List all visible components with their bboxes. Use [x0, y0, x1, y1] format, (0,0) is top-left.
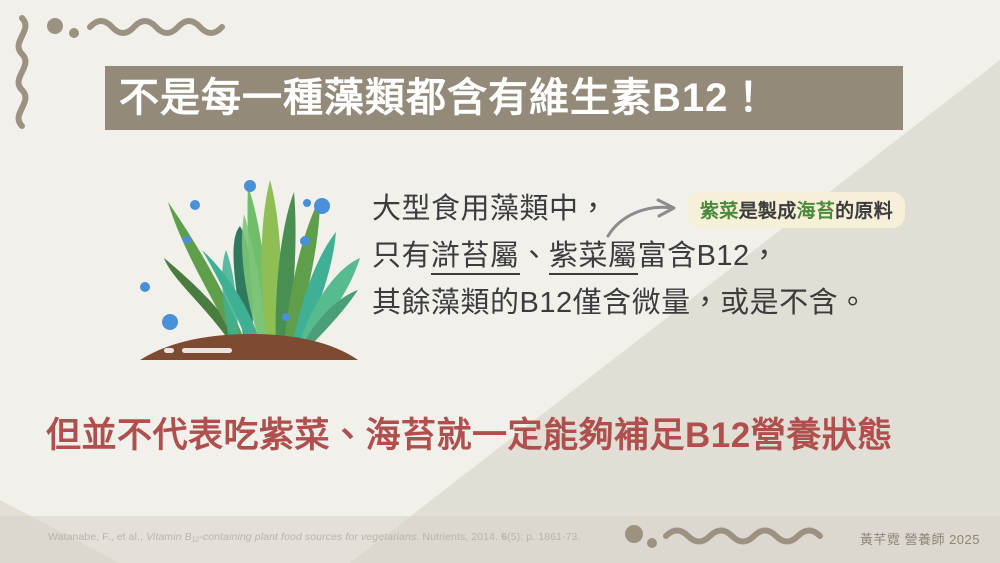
title-band: 不是每一種藻類都含有維生素B12！	[105, 66, 903, 130]
body-line-2: 只有滸苔屬、紫菜屬富含B12，	[372, 233, 952, 280]
vertical-wavy-line-icon	[19, 18, 26, 126]
bubble-icon	[162, 314, 178, 330]
bubble-icon	[183, 236, 191, 244]
body-line-3: 其餘藻類的B12僅含微量，或是不含。	[372, 280, 952, 327]
dot-icon-small	[69, 28, 79, 38]
body-line-2-separator: 、	[520, 240, 550, 272]
bubble-icon	[314, 198, 330, 214]
callout-segment-nori-product: 海苔	[797, 201, 836, 222]
bubble-icon	[190, 200, 200, 210]
callout-badge: 紫菜是製成海苔的原料	[688, 192, 905, 228]
curved-arrow-icon	[602, 196, 692, 240]
decoration-footer	[620, 518, 850, 558]
bubble-icon	[140, 282, 150, 292]
callout-segment-nori-source: 紫菜	[700, 201, 739, 222]
soil-mound	[140, 334, 358, 360]
bubble-icon	[244, 180, 256, 192]
bubble-icon	[300, 236, 310, 246]
bubble-icon	[282, 313, 290, 321]
bubble-icon	[303, 199, 311, 207]
seaweed-illustration	[112, 168, 362, 368]
callout-segment-connector: 是製成	[739, 201, 797, 222]
footer-wavy-line-icon	[666, 531, 820, 542]
callout-segment-suffix: 的原料	[835, 201, 893, 222]
citation-authors: Watanabe, F., et al.,	[48, 531, 146, 543]
citation-journal: . Nutrients, 2014.	[416, 531, 501, 543]
footer-signature: 黃芊霓 營養師 2025	[860, 529, 980, 548]
headline-block: 但並不代表吃紫菜、海苔就一定能夠補足B12營養狀態	[46, 415, 966, 457]
dot-icon-large	[47, 18, 63, 34]
term-enteromorpha: 滸苔屬	[431, 240, 520, 275]
body-line-2-prefix: 只有	[372, 240, 431, 272]
slide-canvas: 不是每一種藻類都含有維生素B12！	[0, 0, 1000, 563]
body-line-2-suffix: 富含B12，	[638, 240, 780, 272]
dot-icon-large	[625, 525, 643, 543]
term-porphyra: 紫菜屬	[549, 240, 638, 275]
citation-title: Vitamin B₁₂-containing plant food source…	[146, 531, 416, 543]
citation-pages: (5): p. 1861-73.	[507, 531, 580, 543]
dot-icon-small	[647, 538, 657, 548]
horizontal-wavy-line-icon	[90, 21, 222, 33]
headline-text: 但並不代表吃紫菜、海苔就一定能夠補足B12營養狀態	[46, 416, 893, 455]
footer-citation: Watanabe, F., et al., Vitamin B₁₂-contai…	[48, 531, 581, 543]
page-title: 不是每一種藻類都含有維生素B12！	[119, 78, 769, 118]
